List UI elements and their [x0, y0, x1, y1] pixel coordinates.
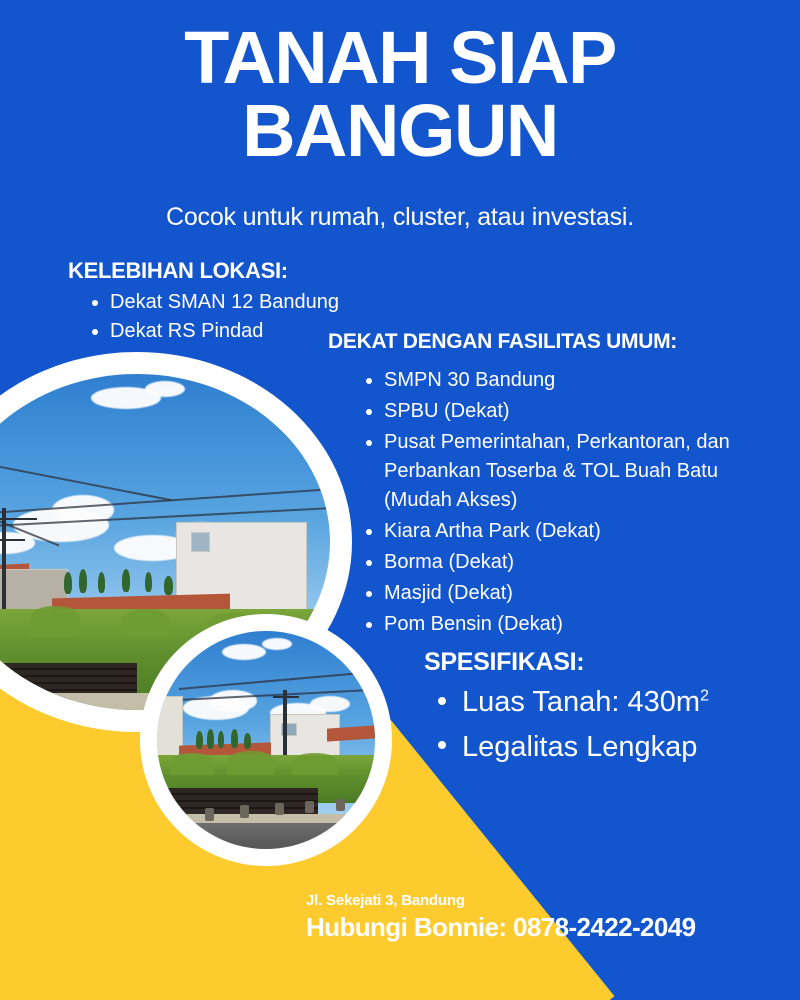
section-title-kelebihan: KELEBIHAN LOKASI: — [68, 258, 398, 284]
section-spesifikasi: SPESIFIKASI: Luas Tanah: 430m2 Legalitas… — [424, 648, 774, 770]
section-fasilitas-umum: DEKAT DENGAN FASILITAS UMUM: SMPN 30 Ban… — [328, 330, 780, 641]
list-item: Pom Bensin (Dekat) — [366, 610, 780, 639]
list-item: Dekat SMAN 12 Bandung — [92, 288, 398, 316]
photo-vacant-land-street-view — [157, 631, 375, 849]
page-title: TANAH SIAP BANGUN — [0, 22, 800, 167]
headline-line-2: BANGUN — [0, 95, 800, 168]
list-item: Masjid (Dekat) — [366, 579, 780, 608]
section-title-spesifikasi: SPESIFIKASI: — [424, 648, 774, 677]
list-item: Kiara Artha Park (Dekat) — [366, 517, 780, 546]
list-item: Legalitas Lengkap — [438, 726, 774, 770]
list-item: Pusat Pemerintahan, Perkantoran, dan Per… — [366, 428, 780, 515]
subtitle: Cocok untuk rumah, cluster, atau investa… — [0, 203, 800, 232]
spesifikasi-legalitas: Legalitas Lengkap — [462, 731, 697, 763]
footer-contact: Hubungi Bonnie: 0878-2422-2049 — [306, 912, 695, 943]
headline-line-1: TANAH SIAP — [184, 16, 616, 99]
photo-circle-small — [140, 614, 392, 866]
square-meter-superscript: 2 — [700, 687, 709, 704]
list-item: SPBU (Dekat) — [366, 397, 780, 426]
poster: TANAH SIAP BANGUN Cocok untuk rumah, clu… — [0, 0, 800, 1000]
spesifikasi-luas-tanah: Luas Tanah: 430m — [462, 686, 700, 718]
spesifikasi-list: Luas Tanah: 430m2 Legalitas Lengkap — [424, 681, 774, 769]
footer: Jl. Sekejati 3, Bandung Hubungi Bonnie: … — [306, 892, 695, 943]
section-title-fasilitas: DEKAT DENGAN FASILITAS UMUM: — [328, 330, 780, 354]
fasilitas-list: SMPN 30 Bandung SPBU (Dekat) Pusat Pemer… — [328, 366, 780, 639]
list-item: Borma (Dekat) — [366, 548, 780, 577]
footer-address: Jl. Sekejati 3, Bandung — [306, 892, 695, 909]
list-item: SMPN 30 Bandung — [366, 366, 780, 395]
list-item: Luas Tanah: 430m2 — [438, 681, 774, 725]
